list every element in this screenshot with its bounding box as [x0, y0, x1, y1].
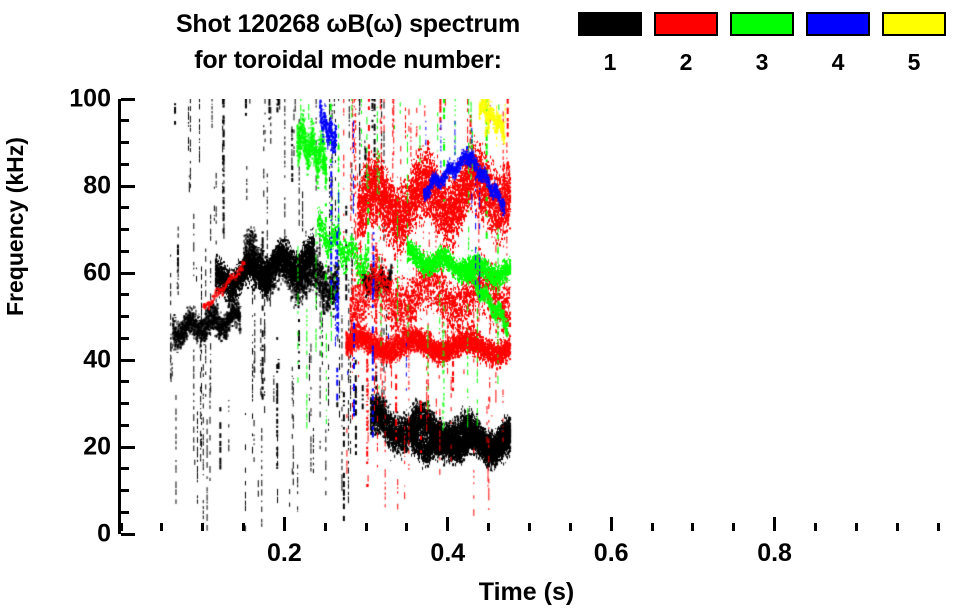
x-tick-minor — [691, 523, 694, 531]
x-tick-minor — [160, 523, 163, 531]
y-tick-minor — [121, 119, 129, 122]
x-tick-minor — [201, 523, 204, 531]
y-tick-minor — [121, 489, 129, 492]
y-tick-minor — [121, 141, 129, 144]
x-tick-minor — [120, 523, 123, 531]
x-tick-label: 0.6 — [594, 539, 629, 568]
y-tick-major — [121, 185, 135, 188]
y-tick-minor — [121, 293, 129, 296]
legend-entry: 3 — [730, 12, 794, 74]
y-tick-major — [121, 359, 135, 362]
y-tick-label: 0 — [97, 520, 111, 549]
y-tick-major — [121, 533, 135, 536]
x-tick-minor — [324, 523, 327, 531]
figure-title: Shot 120268 ωB(ω) spectrum for toroidal … — [118, 6, 578, 78]
y-tick-label: 40 — [83, 346, 111, 375]
legend-entry: 4 — [806, 12, 870, 74]
legend-label: 4 — [832, 50, 845, 74]
x-tick-minor — [855, 523, 858, 531]
y-tick-minor — [121, 206, 129, 209]
y-tick-minor — [121, 337, 129, 340]
x-tick-label: 0.2 — [267, 539, 302, 568]
x-tick-minor — [651, 523, 654, 531]
y-tick-minor — [121, 380, 129, 383]
legend-label: 3 — [756, 50, 769, 74]
x-tick-major — [283, 517, 286, 531]
x-tick-minor — [487, 523, 490, 531]
x-tick-minor — [732, 523, 735, 531]
x-tick-minor — [814, 523, 817, 531]
legend-swatch — [654, 12, 718, 36]
plot-area: 0204060801000.20.40.60.8 — [118, 99, 935, 534]
legend-entry: 1 — [578, 12, 642, 74]
y-tick-minor — [121, 467, 129, 470]
x-tick-label: 0.4 — [430, 539, 465, 568]
legend-label: 1 — [604, 50, 617, 74]
legend-label: 2 — [680, 50, 693, 74]
legend-swatch — [578, 12, 642, 36]
x-tick-minor — [569, 523, 572, 531]
y-tick-major — [121, 272, 135, 275]
x-tick-major — [610, 517, 613, 531]
y-tick-major — [121, 98, 135, 101]
y-tick-minor — [121, 424, 129, 427]
figure-title-line-1: Shot 120268 ωB(ω) spectrum — [118, 6, 578, 42]
x-tick-minor — [405, 523, 408, 531]
y-tick-minor — [121, 315, 129, 318]
x-tick-minor — [937, 523, 940, 531]
y-tick-label: 20 — [83, 433, 111, 462]
legend-swatch — [806, 12, 870, 36]
x-tick-minor — [365, 523, 368, 531]
y-tick-minor — [121, 402, 129, 405]
spectrogram-figure: Shot 120268 ωB(ω) spectrum for toroidal … — [0, 0, 963, 615]
x-tick-minor — [242, 523, 245, 531]
y-tick-label: 100 — [69, 85, 111, 114]
y-tick-label: 60 — [83, 259, 111, 288]
legend-swatch — [882, 12, 946, 36]
x-tick-minor — [896, 523, 899, 531]
legend-entry: 5 — [882, 12, 946, 74]
y-tick-minor — [121, 250, 129, 253]
x-tick-major — [773, 517, 776, 531]
y-tick-label: 80 — [83, 172, 111, 201]
spectrogram-canvas — [121, 99, 938, 534]
x-axis-title: Time (s) — [118, 578, 935, 607]
legend-swatch — [730, 12, 794, 36]
y-tick-minor — [121, 163, 129, 166]
x-tick-major — [446, 517, 449, 531]
y-tick-minor — [121, 228, 129, 231]
x-tick-minor — [528, 523, 531, 531]
legend-label: 5 — [908, 50, 921, 74]
y-tick-major — [121, 446, 135, 449]
x-tick-label: 0.8 — [757, 539, 792, 568]
figure-title-line-2: for toroidal mode number: — [118, 42, 578, 78]
y-axis-title: Frequency (kHz) — [2, 137, 29, 316]
y-tick-minor — [121, 511, 129, 514]
legend: 12345 — [578, 12, 946, 74]
legend-entry: 2 — [654, 12, 718, 74]
